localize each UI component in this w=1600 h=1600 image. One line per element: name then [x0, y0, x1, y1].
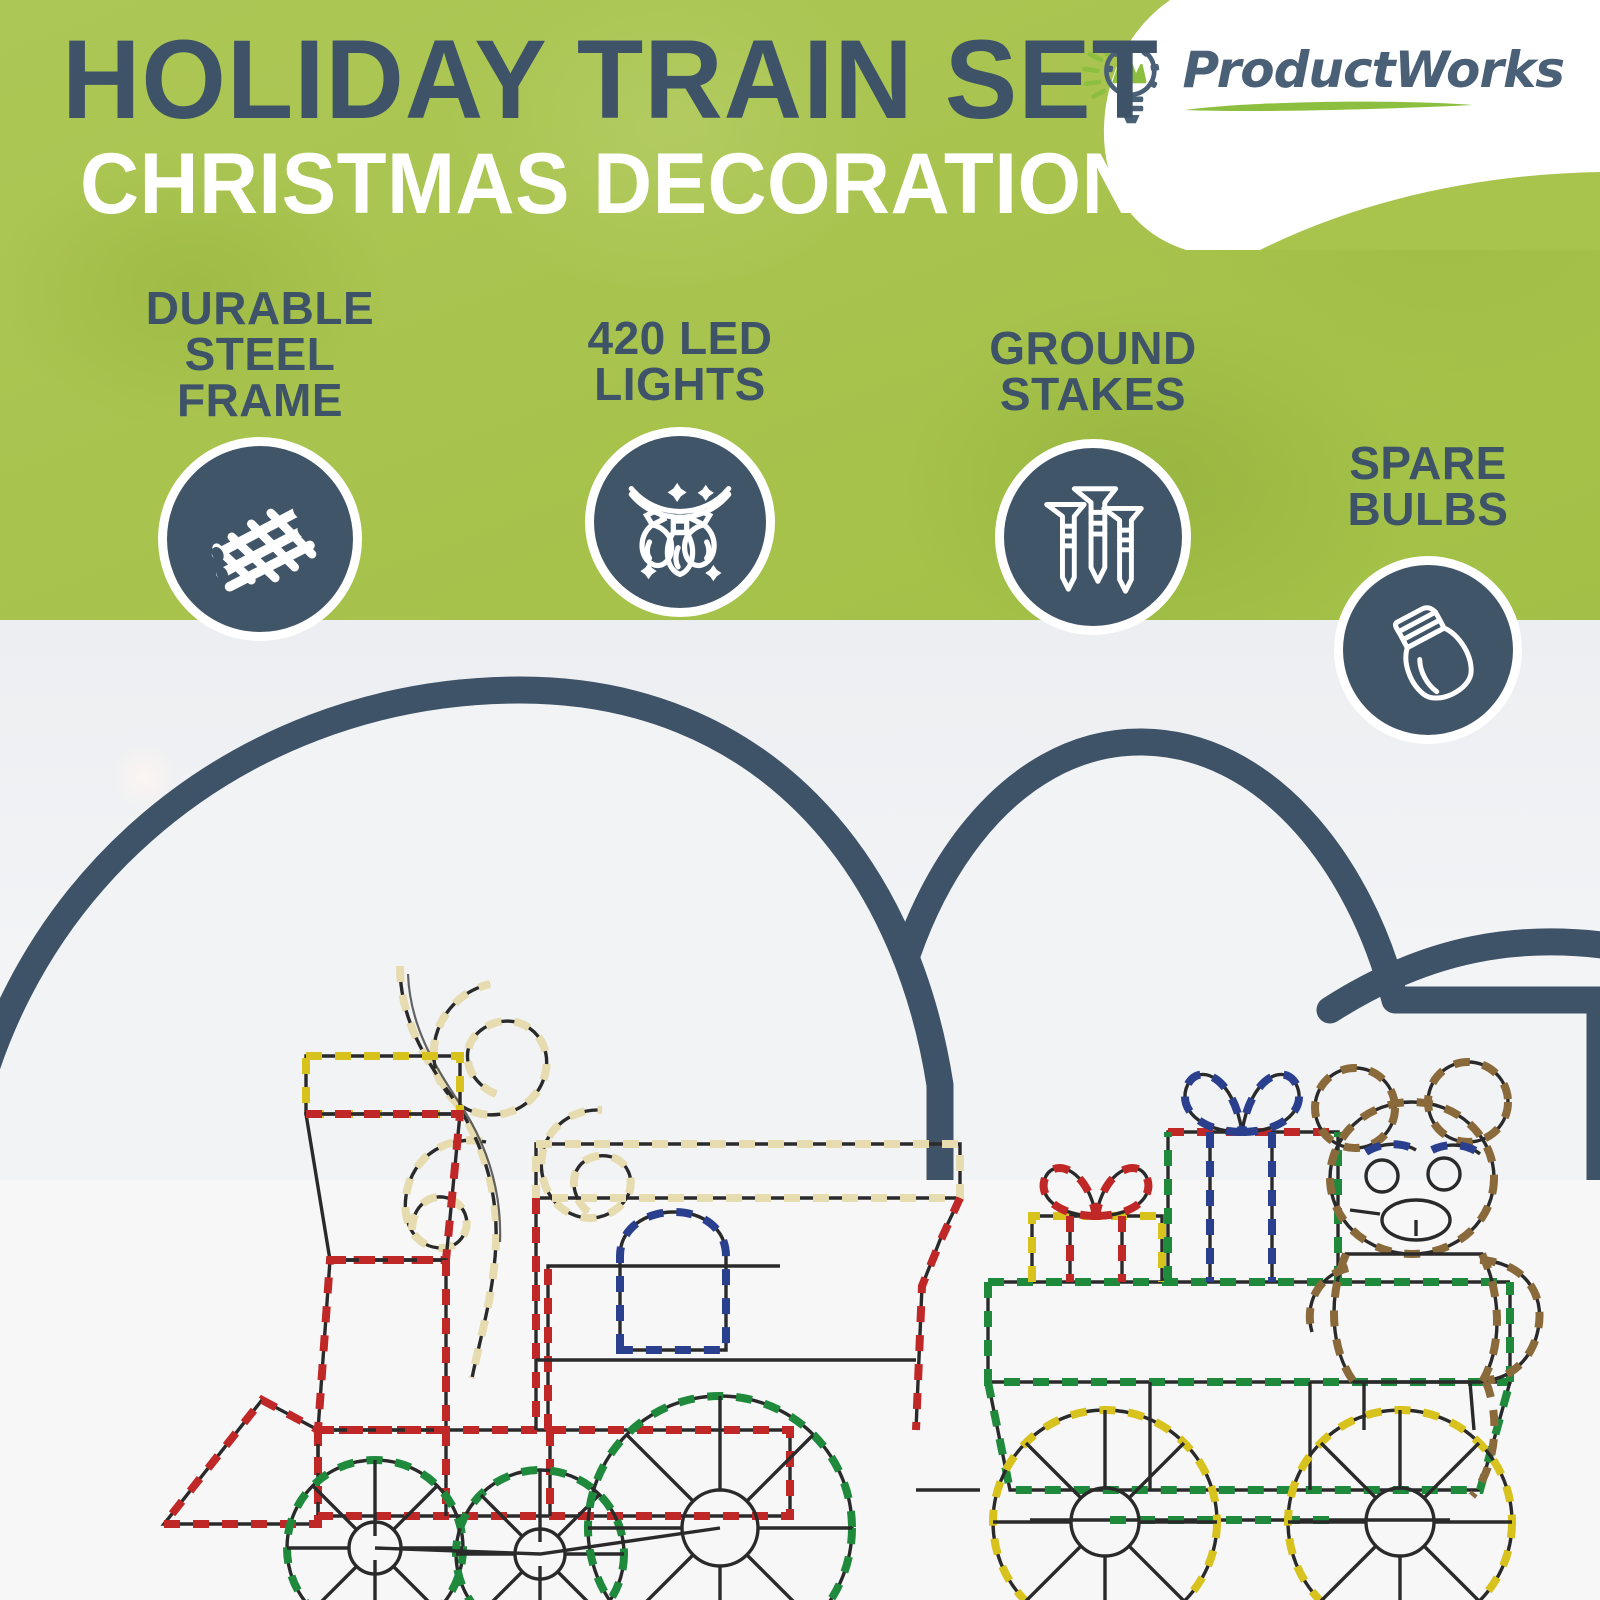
feature-badge-2[interactable]: [995, 439, 1191, 635]
logo-swoosh: [1183, 99, 1475, 115]
ground-stakes-icon: [1029, 473, 1157, 601]
product-photo-train: .w { fill:none; stroke:#2a2a2a; stroke-w…: [150, 930, 1550, 1600]
car-wheel-left: [993, 1410, 1217, 1600]
feature-badge-1[interactable]: [585, 427, 775, 617]
steel-rods-icon: [195, 474, 325, 604]
gift-car: [988, 1062, 1540, 1600]
spare-bulb-icon: [1369, 591, 1487, 709]
feature-badge-0[interactable]: [158, 437, 362, 641]
feature-badge-3[interactable]: [1334, 556, 1522, 744]
feature-label-0: DURABLE STEEL FRAME: [146, 285, 374, 423]
feature-spare-bulbs[interactable]: SPARE BULBS: [1268, 440, 1588, 744]
page-title: HOLIDAY TRAIN SET: [62, 28, 935, 131]
title-block: HOLIDAY TRAIN SET CHRISTMAS DECORATION: [62, 28, 962, 227]
loco-wheel-small-1: [287, 1460, 463, 1600]
feature-label-3: SPARE BULBS: [1348, 440, 1509, 532]
smoke-swirls: [400, 966, 631, 1378]
feature-label-1: 420 LED LIGHTS: [587, 315, 772, 407]
car-wheel-right: [1288, 1410, 1512, 1600]
train-illustration: .w { fill:none; stroke:#2a2a2a; stroke-w…: [150, 930, 1550, 1600]
loco-wheel-large: [588, 1396, 852, 1600]
feature-label-2: GROUND STAKES: [989, 325, 1196, 417]
present-red: [1032, 1168, 1162, 1282]
locomotive: [164, 1056, 960, 1600]
string-lights-icon: [618, 460, 742, 584]
product-marketing-image: .w { fill:none; stroke:#2a2a2a; stroke-w…: [0, 0, 1600, 1600]
feature-led-lights[interactable]: 420 LED LIGHTS: [520, 315, 840, 617]
brand-name: ProductWorks: [1183, 45, 1564, 95]
feature-ground-stakes[interactable]: GROUND STAKES: [918, 325, 1268, 635]
feature-durable-steel-frame[interactable]: DURABLE STEEL FRAME: [60, 285, 460, 641]
page-subtitle: CHRISTMAS DECORATION: [80, 141, 918, 227]
